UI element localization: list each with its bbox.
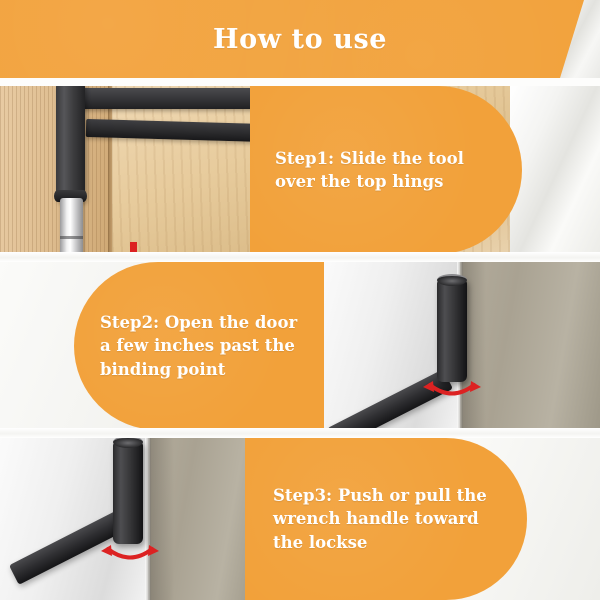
- door-edge-shadow: [148, 438, 174, 600]
- rotation-arrow-icon: [99, 544, 161, 570]
- step-2-text: Step2: Open the door a few inches past t…: [100, 311, 308, 381]
- how-to-use-infographic: How to use Step1: Slide the tool over th…: [0, 0, 600, 600]
- wrench-cylinder: [437, 278, 467, 382]
- panel-divider-2: [0, 428, 600, 438]
- step-2-callout: Step2: Open the door a few inches past t…: [74, 262, 324, 430]
- step-3-callout: Step3: Push or pull the wrench handle to…: [245, 438, 527, 600]
- step-3-text: Step3: Push or pull the wrench handle to…: [273, 484, 491, 554]
- page-title: How to use: [0, 0, 600, 78]
- chrome-hinge-pin: [60, 198, 83, 254]
- wrench-cylinder-top: [437, 274, 467, 286]
- rotation-arrow-icon: [421, 380, 483, 406]
- step-1-text: Step1: Slide the tool over the top hings: [275, 147, 482, 194]
- header-banner: How to use: [0, 0, 600, 78]
- door-seam: [108, 86, 113, 254]
- cloth-background-right: [510, 86, 600, 254]
- wrench-vertical-sleeve: [56, 86, 85, 202]
- step-1-callout: Step1: Slide the tool over the top hings: [250, 86, 522, 254]
- panel-divider-1: [0, 252, 600, 262]
- step-panel-1: Step1: Slide the tool over the top hings: [0, 86, 600, 254]
- step-panel-3: Step3: Push or pull the wrench handle to…: [0, 438, 600, 600]
- step-panel-2: Step2: Open the door a few inches past t…: [0, 262, 600, 430]
- wrench-cylinder: [113, 440, 143, 544]
- door-edge-highlight: [145, 438, 151, 600]
- chrome-hinge-ring: [60, 236, 83, 239]
